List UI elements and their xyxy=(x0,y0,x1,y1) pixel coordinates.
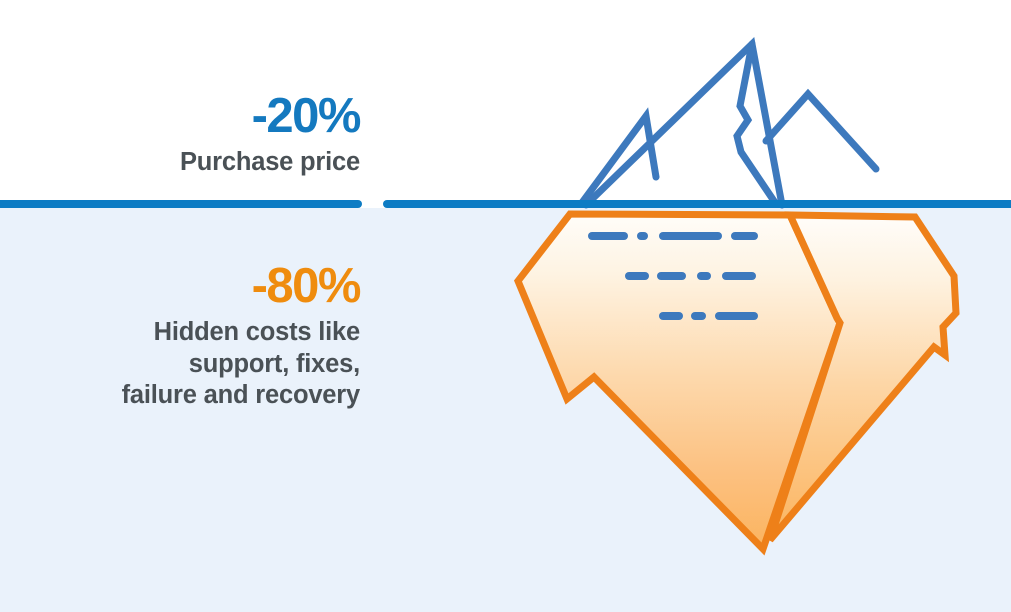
below-water-caption: Hidden costs like support, fixes, failur… xyxy=(0,317,360,412)
center-peak-outline xyxy=(586,44,782,205)
dash-mark xyxy=(659,232,722,240)
iceberg-infographic: -20% Purchase price -80% Hidden costs li… xyxy=(0,0,1011,612)
dash-mark xyxy=(659,312,683,320)
mountain-peaks xyxy=(581,44,876,205)
dash-mark xyxy=(722,272,756,280)
dash-mark xyxy=(697,272,711,280)
below-water-text-block: -80% Hidden costs like support, fixes, f… xyxy=(0,262,360,412)
dash-mark xyxy=(625,272,649,280)
dash-mark xyxy=(637,232,648,240)
dash-mark xyxy=(657,272,686,280)
dash-mark xyxy=(731,232,758,240)
dash-row-1 xyxy=(588,232,758,240)
dash-mark xyxy=(691,312,706,320)
left-peak-outline xyxy=(581,116,656,204)
below-water-caption-line: failure and recovery xyxy=(122,381,360,409)
above-water-text-block: -20% Purchase price xyxy=(0,92,360,179)
below-water-percent: -80% xyxy=(0,262,360,311)
dash-mark xyxy=(588,232,628,240)
below-water-caption-line: Hidden costs like xyxy=(154,318,360,346)
above-water-percent: -20% xyxy=(0,92,360,141)
right-peak-outline xyxy=(766,94,876,169)
dash-mark xyxy=(715,312,758,320)
above-water-caption: Purchase price xyxy=(0,147,360,179)
below-water-caption-line: support, fixes, xyxy=(189,350,360,378)
